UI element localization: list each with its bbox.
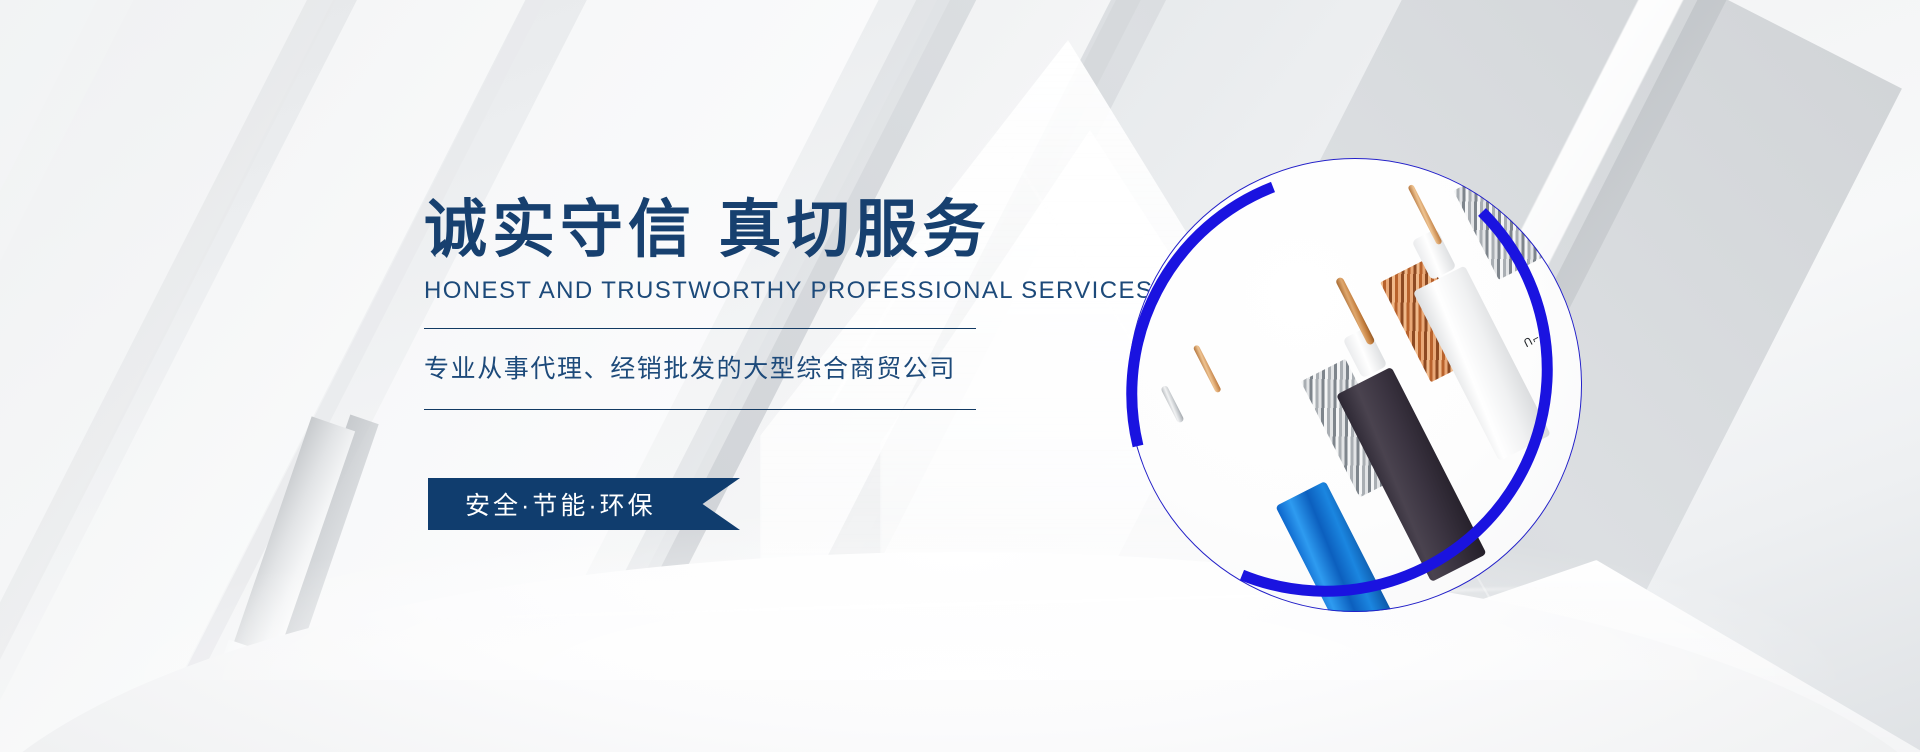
hero-banner: 诚实守信 真切服务 HONEST AND TRUSTWORTHY PROFESS… bbox=[0, 0, 1920, 752]
feature-badge: 安全·节能·环保 bbox=[428, 478, 740, 530]
company-tagline: 专业从事代理、经销批发的大型综合商贸公司 bbox=[424, 349, 1044, 385]
page-title: 诚实守信 真切服务 bbox=[424, 196, 1044, 264]
divider-top bbox=[424, 328, 976, 329]
divider-bottom bbox=[424, 409, 976, 410]
medallion-accent-arc bbox=[1120, 150, 1590, 620]
hero-text-block: 诚实守信 真切服务 HONEST AND TRUSTWORTHY PROFESS… bbox=[424, 196, 1044, 410]
page-subtitle: HONEST AND TRUSTWORTHY PROFESSIONAL SERV… bbox=[424, 277, 1044, 305]
product-medallion: ᑎ⌐ bbox=[1120, 150, 1590, 620]
badge-label: 安全·节能·环保 bbox=[465, 486, 656, 522]
